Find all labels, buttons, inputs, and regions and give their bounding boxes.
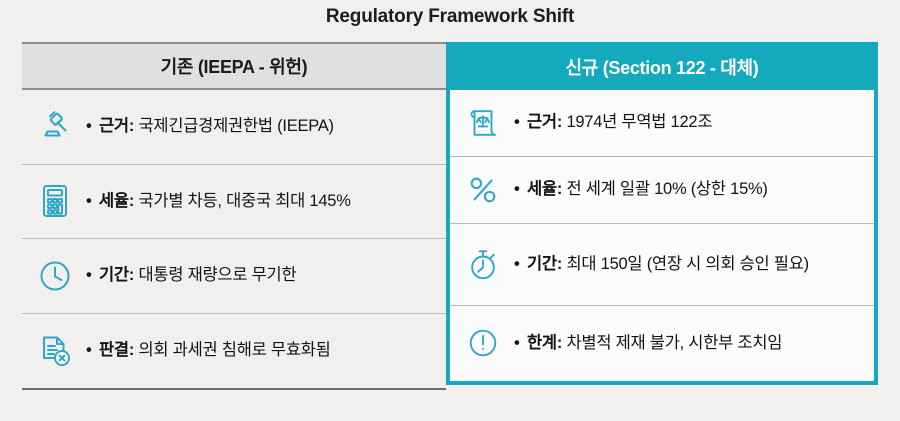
column-header-new: 신규 (Section 122 - 대체) [446,42,878,90]
row-value: 대통령 재량으로 무기한 [138,266,296,284]
row-value: 1974년 무역법 122조 [566,113,712,131]
row-value: 차별적 제재 불가, 시한부 조치임 [566,334,782,352]
table-row: •판결: 의회 과세권 침해로 무효화됨 [22,314,446,389]
row-label: 기간: [99,266,134,284]
row-label: 근거: [527,113,562,131]
table-row: •세율: 전 세계 일괄 10% (상한 15%) [450,157,874,224]
table-row: •기간: 최대 150일 (연장 시 의회 승인 필요) [450,224,874,306]
row-label: 근거: [99,117,134,135]
calculator-icon [26,178,84,224]
bullet: • [86,340,99,361]
row-value: 전 세계 일괄 10% (상한 15%) [566,180,767,198]
row-text: •한계: 차별적 제재 불가, 시한부 조치임 [512,333,868,354]
column-body-new: •근거: 1974년 무역법 122조 •세율: 전 세계 일괄 10% (상한… [446,90,878,385]
bullet: • [514,333,527,354]
table-row: •근거: 1974년 무역법 122조 [450,90,874,157]
bullet: • [514,112,527,133]
row-text: •세율: 전 세계 일괄 10% (상한 15%) [512,179,868,200]
clock-icon [26,253,84,299]
law-scroll-icon [454,100,512,146]
table-row: •세율: 국가별 차등, 대중국 최대 145% [22,165,446,240]
row-text: •기간: 대통령 재량으로 무기한 [84,265,440,286]
row-text: •근거: 1974년 무역법 122조 [512,112,868,133]
comparison-table: 기존 (IEEPA - 위헌) •근거: 국제긴급경제권한법 (IEEPA) [22,42,878,403]
bullet: • [514,254,527,275]
table-row: •한계: 차별적 제재 불가, 시한부 조치임 [450,306,874,381]
bullet: • [86,116,99,137]
bullet: • [86,265,99,286]
row-label: 한계: [527,334,562,352]
document-cancel-icon [26,328,84,374]
row-text: •세율: 국가별 차등, 대중국 최대 145% [84,191,440,212]
column-old-framework: 기존 (IEEPA - 위헌) •근거: 국제긴급경제권한법 (IEEPA) [22,42,446,403]
row-text: •근거: 국제긴급경제권한법 (IEEPA) [84,116,440,137]
table-row: •기간: 대통령 재량으로 무기한 [22,239,446,314]
bullet: • [86,191,99,212]
row-label: 기간: [527,255,562,273]
row-text: •판결: 의회 과세권 침해로 무효화됨 [84,340,440,361]
percent-icon [454,167,512,213]
column-header-old: 기존 (IEEPA - 위헌) [22,42,446,90]
row-label: 세율: [99,192,134,210]
row-label: 세율: [527,180,562,198]
exclamation-circle-icon [454,320,512,366]
row-value: 국가별 차등, 대중국 최대 145% [138,192,350,210]
row-label: 판결: [99,341,134,359]
row-value: 의회 과세권 침해로 무효화됨 [138,341,330,359]
page-title: Regulatory Framework Shift [0,6,900,28]
stopwatch-icon [454,242,512,288]
table-row: •근거: 국제긴급경제권한법 (IEEPA) [22,90,446,165]
bullet: • [514,179,527,200]
row-value: 최대 150일 (연장 시 의회 승인 필요) [566,255,808,273]
column-new-framework: 신규 (Section 122 - 대체) •근거: [446,42,878,403]
column-body-old: •근거: 국제긴급경제권한법 (IEEPA) [22,90,446,390]
gavel-icon [26,104,84,150]
row-text: •기간: 최대 150일 (연장 시 의회 승인 필요) [512,254,868,275]
row-value: 국제긴급경제권한법 (IEEPA) [138,117,333,135]
